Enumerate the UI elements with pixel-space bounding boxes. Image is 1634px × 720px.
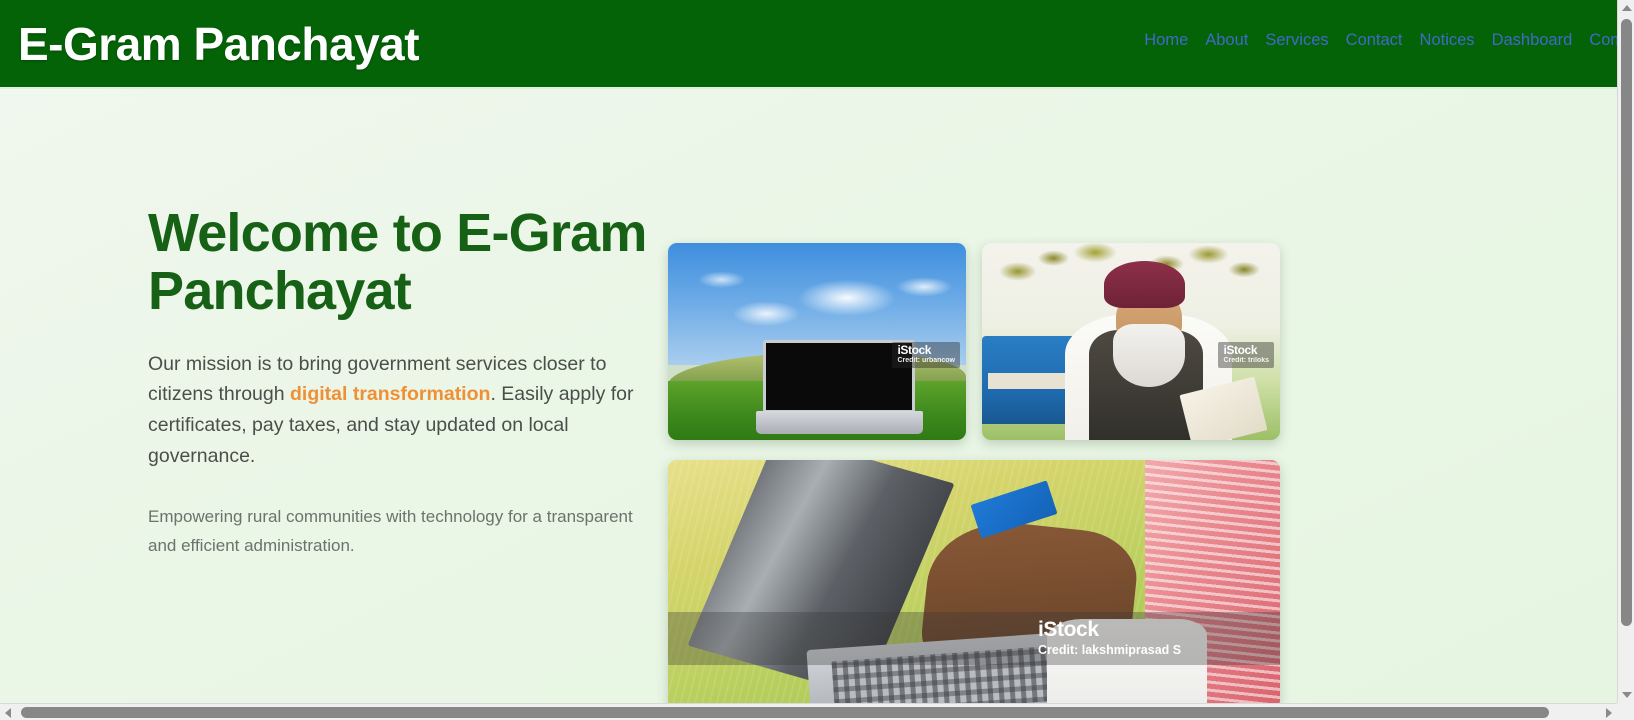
scroll-up-arrow-icon[interactable] xyxy=(1622,5,1632,11)
scrollbar-corner xyxy=(1617,703,1634,720)
nav-link-about[interactable]: About xyxy=(1205,32,1248,49)
farmer-turban xyxy=(1104,261,1184,308)
laptop-base xyxy=(756,411,923,434)
laptop-object xyxy=(763,340,915,435)
collage-top-row: iStock Credit: urbancow xyxy=(668,243,1308,440)
laptop-screen xyxy=(763,340,915,414)
nav-link-contact[interactable]: Contact xyxy=(1346,32,1403,49)
main-navigation: Home About Services Contact Notices Dash… xyxy=(1144,32,1617,49)
scroll-right-arrow-icon[interactable] xyxy=(1606,708,1612,718)
site-header: E-Gram Panchayat Home About Services Con… xyxy=(0,0,1617,89)
nav-link-complain[interactable]: Complain xyxy=(1589,32,1617,49)
nav-link-services[interactable]: Services xyxy=(1265,32,1328,49)
farmer-beard xyxy=(1113,324,1185,387)
vertical-scrollbar[interactable] xyxy=(1617,0,1634,703)
photo-farmer-with-tablet[interactable]: iStock Credit: triloks xyxy=(982,243,1280,440)
horizontal-scroll-thumb[interactable] xyxy=(21,707,1549,718)
photo-hands-on-laptop-in-paddy-field[interactable]: iStock Credit: lakshmiprasad S xyxy=(668,460,1280,703)
browser-viewport: E-Gram Panchayat Home About Services Con… xyxy=(0,0,1617,703)
horizontal-scrollbar[interactable] xyxy=(0,703,1617,720)
hero-image-collage: iStock Credit: urbancow xyxy=(668,144,1308,703)
photo-laptop-in-green-field[interactable]: iStock Credit: urbancow xyxy=(668,243,966,440)
hero-text-column: Welcome to E-Gram Panchayat Our mission … xyxy=(0,144,660,560)
nav-link-dashboard[interactable]: Dashboard xyxy=(1492,32,1573,49)
white-sleeve xyxy=(1047,619,1206,703)
scroll-left-arrow-icon[interactable] xyxy=(5,708,11,718)
hero-section: Welcome to E-Gram Panchayat Our mission … xyxy=(0,89,1617,703)
nav-link-home[interactable]: Home xyxy=(1144,32,1188,49)
site-brand-title: E-Gram Panchayat xyxy=(18,21,419,67)
nav-link-notices[interactable]: Notices xyxy=(1420,32,1475,49)
page-title: Welcome to E-Gram Panchayat xyxy=(148,204,658,321)
digital-transformation-link[interactable]: digital transformation xyxy=(290,383,490,405)
hero-lead-paragraph: Our mission is to bring government servi… xyxy=(148,349,660,472)
scroll-down-arrow-icon[interactable] xyxy=(1622,692,1632,698)
hero-subtext: Empowering rural communities with techno… xyxy=(148,502,660,560)
vertical-scroll-thumb[interactable] xyxy=(1621,19,1632,626)
